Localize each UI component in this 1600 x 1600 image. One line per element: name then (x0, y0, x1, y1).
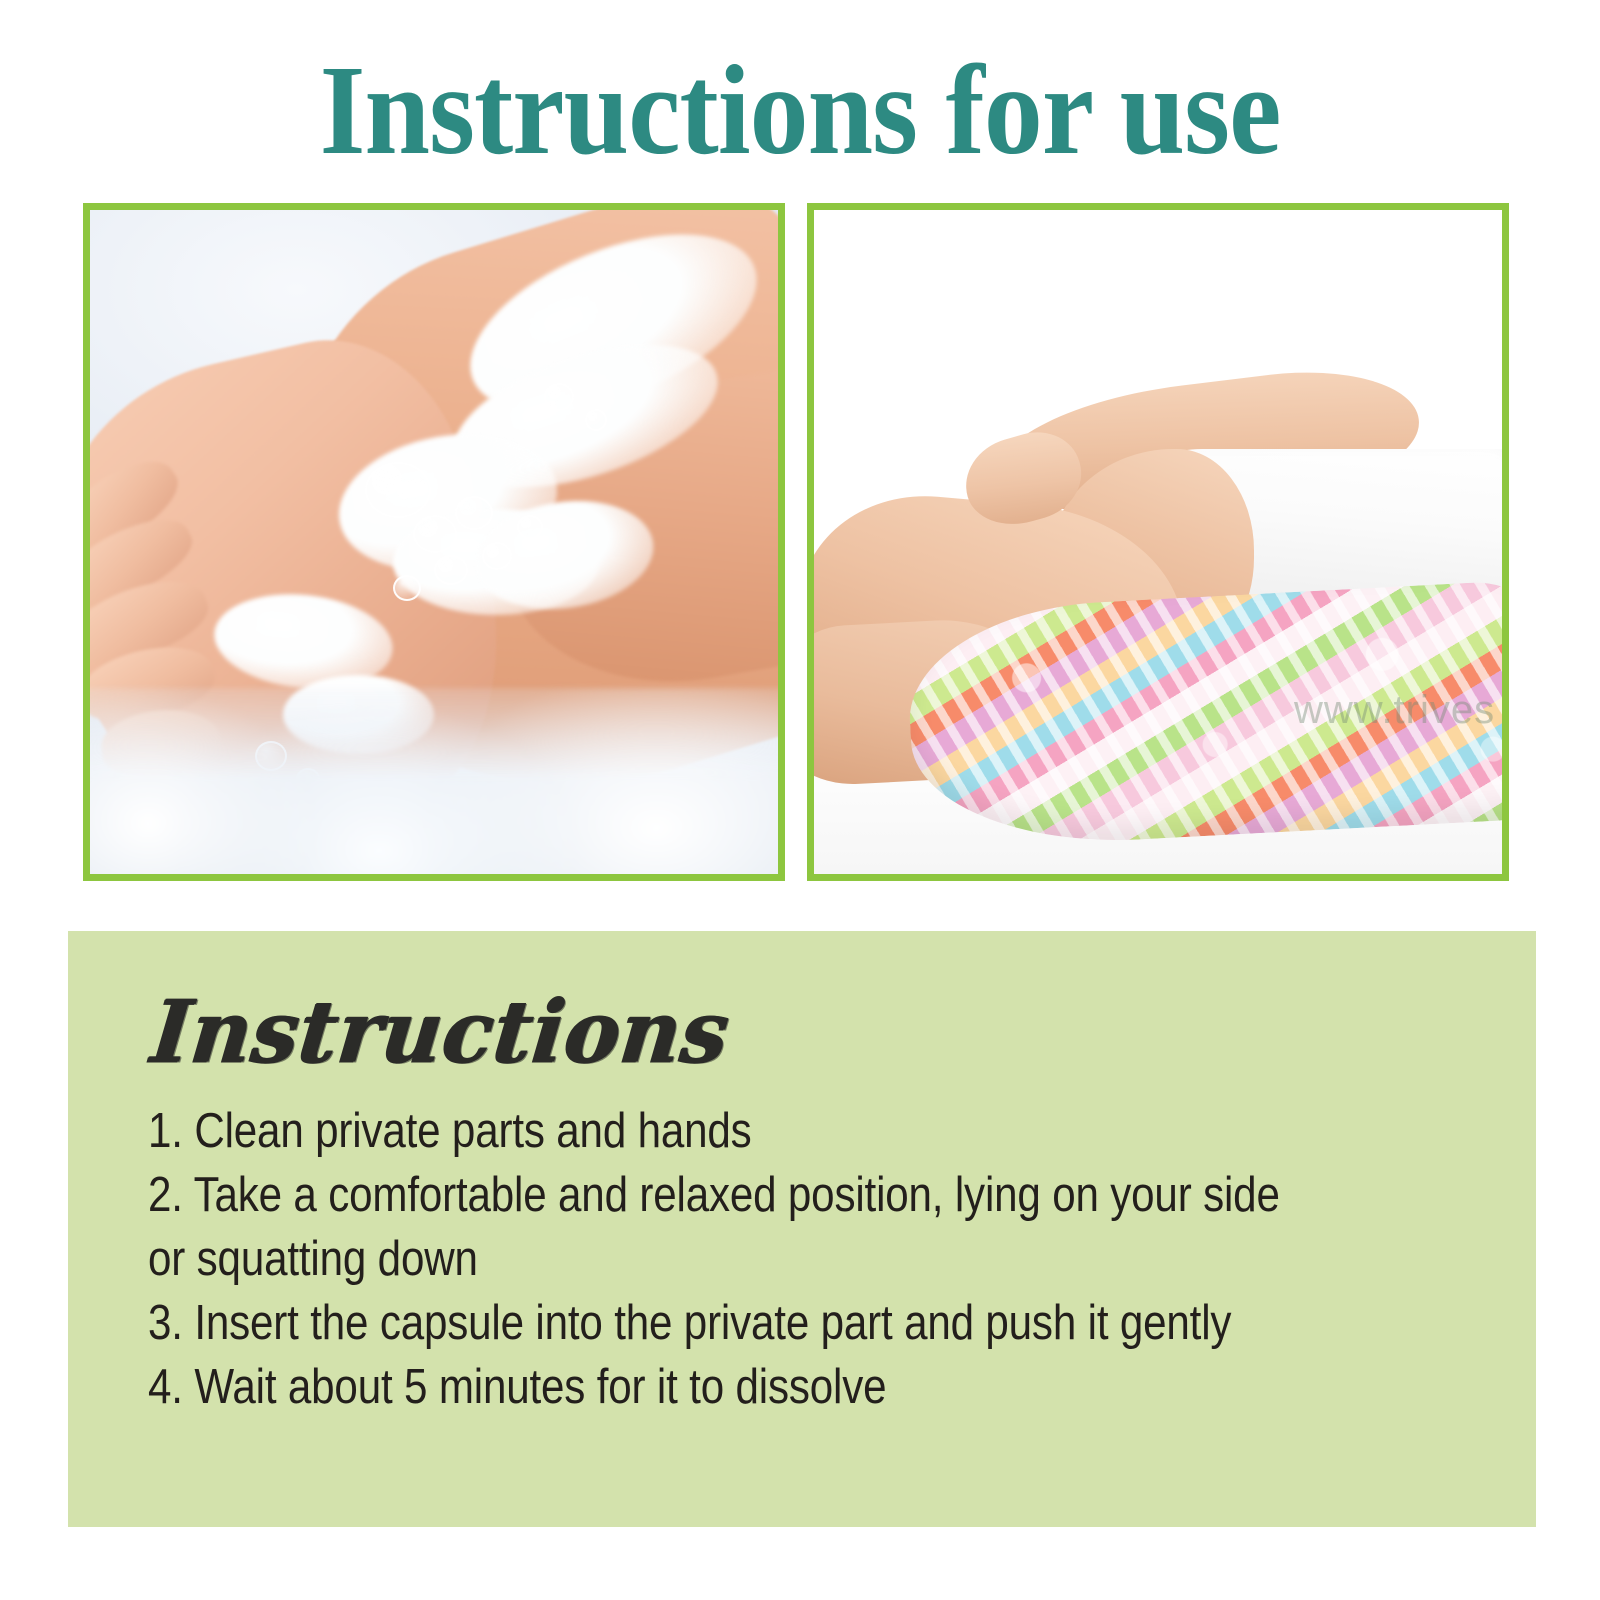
instruction-step-1: 1. Clean private parts and hands (148, 1099, 1300, 1163)
lying-on-side-photo-frame: www.trives (807, 203, 1509, 881)
instructions-panel: Instructions 1. Clean private parts and … (68, 931, 1536, 1527)
soap-bubble (544, 383, 574, 411)
patterned-pajama-pants (905, 578, 1502, 851)
instruction-step-3: 3. Insert the capsule into the private p… (148, 1291, 1300, 1355)
soap-bubble (455, 496, 493, 530)
instruction-step-2: 2. Take a comfortable and relaxed positi… (148, 1163, 1300, 1291)
instructions-list: 1. Clean private parts and hands 2. Take… (148, 1099, 1488, 1419)
instructions-heading: Instructions (148, 989, 733, 1075)
soap-bubble (393, 575, 421, 601)
washing-hands-photo (90, 210, 778, 874)
soap-bubble (517, 515, 543, 539)
running-water (90, 688, 778, 874)
washing-hands-photo-frame (83, 203, 785, 881)
instruction-step-4: 4. Wait about 5 minutes for it to dissol… (148, 1355, 1300, 1419)
photo-row: www.trives (83, 203, 1509, 881)
page-title: Instructions for use (64, 46, 1536, 174)
soap-bubble (482, 542, 512, 570)
lying-on-side-photo: www.trives (814, 210, 1502, 874)
